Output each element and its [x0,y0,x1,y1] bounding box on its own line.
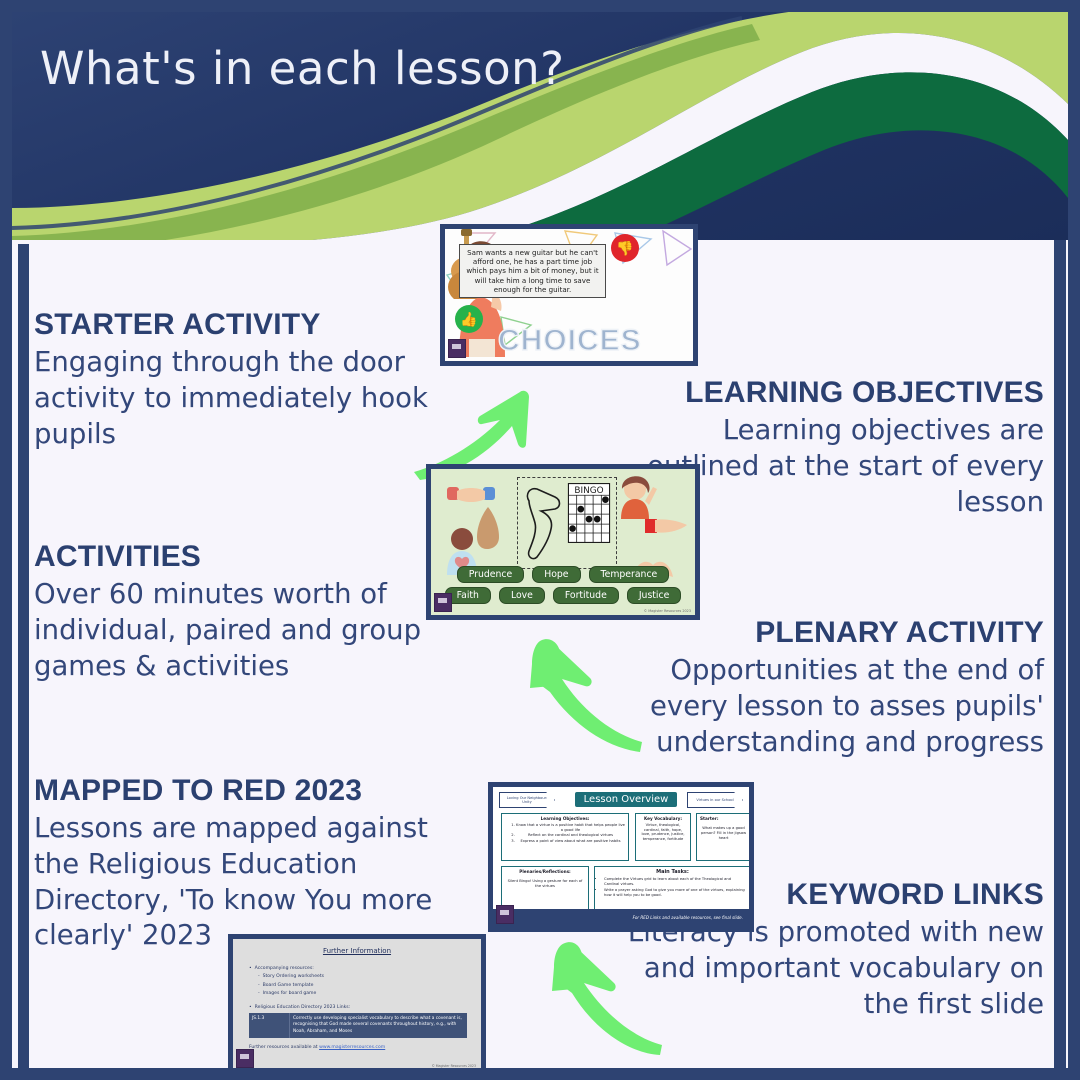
virtue-button-hope[interactable]: Hope [532,566,580,583]
overview-main-tasks-list: Complete the Virtues grid to learn about… [598,877,747,897]
overview-starter-heading: Starter: [700,816,747,821]
bingo-card-icon: BINGO [567,483,611,543]
overview-plenary-card: Plenaries/Reflections: Silent Bingo! Usi… [501,866,589,910]
overview-main-tasks-card: Main Tasks: Complete the Virtues grid to… [594,866,751,910]
publisher-logo-icon [236,1049,254,1068]
publisher-logo-icon [434,593,452,612]
section-starter-activity-body: Engaging through the door activity to im… [34,345,454,452]
overview-learning-objectives-card: Learning Objectives: Know that a virtue … [501,813,629,861]
sign-language-hand-icon [523,483,563,563]
slide-thumbnail-lesson-overview[interactable]: Loving Our Neighbour: Unity Lesson Overv… [488,782,754,932]
further-resources-prefix: Further resources available at [249,1045,319,1050]
right-accent-bar [1054,240,1066,1068]
red-link-code: JS.1.3 [249,1013,289,1038]
choices-title-word: CHOICES [498,324,642,358]
section-activities-heading: ACTIVITIES [34,540,454,573]
list-item: Accompanying resources: [249,965,467,973]
overview-key-vocabulary-heading: Key Vocabulary: [639,816,687,821]
overview-learning-objectives-heading: Learning Objectives: [505,816,625,821]
header-band: What's in each lesson? [12,12,1068,240]
page-title: What's in each lesson? [40,42,565,95]
further-resources-link[interactable]: www.magisterresources.com [319,1045,385,1050]
virtue-button-row-2: Faith Love Fortitude Justice [431,587,695,604]
overview-plenary-text: Silent Bingo! Using a gesture for each o… [505,879,585,888]
section-plenary-activity-heading: PLENARY ACTIVITY [614,616,1044,649]
list-item: Religious Education Directory 2023 Links… [249,1004,467,1012]
slide-thumbnail-virtues-bingo[interactable]: BINGO [426,464,700,620]
section-starter-activity: STARTER ACTIVITY Engaging through the do… [34,308,454,452]
pupil-raising-hand-icon [615,475,657,519]
section-mapped-to-red-body: Lessons are mapped against the Religious… [34,811,464,954]
thumbs-down-icon: 👎 [611,234,639,262]
overview-title: Lesson Overview [575,792,677,807]
further-information-list: Accompanying resources: Story Ordering w… [249,965,467,1012]
publisher-logo-icon [448,339,466,358]
virtue-button-row-1: Prudence Hope Temperance [431,566,695,583]
slide-thumbnail-starter-choices[interactable]: Sam wants a new guitar but he can't affo… [440,224,698,366]
overview-starter-card: Starter: What makes up a good person? Fi… [696,813,751,861]
section-plenary-activity: PLENARY ACTIVITY Opportunities at the en… [614,616,1044,760]
handshake-icon [447,479,495,509]
virtue-button-temperance[interactable]: Temperance [589,566,670,583]
section-activities-body: Over 60 minutes worth of individual, pai… [34,577,454,684]
arrow-to-overview-icon [532,937,662,1059]
red-links-table: JS.1.3 Correctly use developing speciali… [249,1013,467,1038]
list-item: Reflect on the cardinal and theological … [516,833,625,838]
overview-main-tasks-heading: Main Tasks: [598,869,747,875]
poster-canvas: What's in each lesson? STARTER ACTIVITY … [12,12,1068,1068]
overview-banner-right: Virtues in our School [687,792,743,808]
overview-key-vocabulary-card: Key Vocabulary: Virtue, theological, car… [635,813,691,861]
overview-banner-left: Loving Our Neighbour: Unity [499,792,555,808]
further-resources-line: Further resources available at www.magis… [249,1045,385,1050]
virtue-button-justice[interactable]: Justice [627,587,682,604]
list-item: Board Game template [249,982,467,990]
pointing-hand-icon [645,517,689,535]
overview-plenary-heading: Plenaries/Reflections: [505,869,585,874]
section-mapped-to-red-heading: MAPPED TO RED 2023 [34,774,464,807]
list-item: Write a prayer asking God to give you mo… [604,888,747,897]
virtue-button-love[interactable]: Love [499,587,545,604]
overview-starter-text: What makes up a good person? Fill in the… [700,826,747,840]
svg-text:BINGO: BINGO [574,486,603,496]
section-activities: ACTIVITIES Over 60 minutes worth of indi… [34,540,454,684]
list-item: Story Ordering worksheets [249,973,467,981]
further-slide-credit: © Magister Resources 2023 [432,1064,476,1068]
section-plenary-activity-body: Opportunities at the end of every lesson… [614,653,1044,760]
arrow-to-activities-icon [512,630,642,755]
virtue-button-fortitude[interactable]: Fortitude [553,587,619,604]
list-item: Images for board game [249,990,467,998]
bingo-slide-credit: © Magister Resources 2023 [644,609,691,613]
left-accent-bar [18,244,29,1068]
choices-scenario-text: Sam wants a new guitar but he can't affo… [459,244,606,298]
thumbs-up-icon: 👍 [455,305,483,333]
section-starter-activity-heading: STARTER ACTIVITY [34,308,454,341]
poster: What's in each lesson? STARTER ACTIVITY … [0,0,1080,1080]
further-information-title: Further Information [233,947,481,955]
virtue-button-prudence[interactable]: Prudence [457,566,525,583]
list-item: Express a point of view about what are p… [516,839,625,844]
overview-key-vocabulary-text: Virtue, theological, cardinal, faith, ho… [641,823,684,841]
overview-footnote: For RED Links and available resources, s… [633,915,743,920]
list-item: Know that a virtue is a positive habit t… [516,823,625,832]
list-item: Complete the Virtues grid to learn about… [604,877,747,886]
section-learning-objectives-heading: LEARNING OBJECTIVES [624,376,1044,409]
overview-learning-objectives-list: Know that a virtue is a positive habit t… [505,823,625,844]
slide-thumbnail-further-information[interactable]: Further Information Accompanying resourc… [228,934,486,1068]
publisher-logo-icon [496,905,514,924]
red-link-description: Correctly use developing specialist voca… [289,1013,467,1038]
section-mapped-to-red: MAPPED TO RED 2023 Lessons are mapped ag… [34,774,464,954]
